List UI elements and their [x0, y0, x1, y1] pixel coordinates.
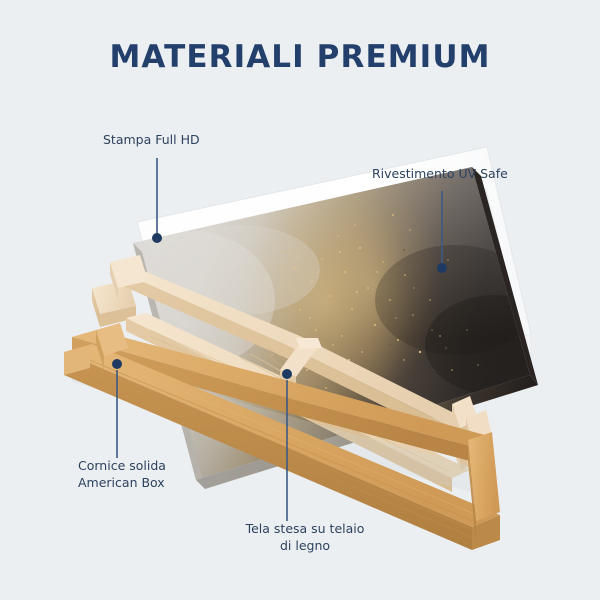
infographic-root: MATERIALI PREMIUM: [0, 0, 600, 600]
printed-canvas-layer: [95, 167, 565, 489]
callout-label-cornice-solida-american-box: Cornice solida American Box: [78, 457, 166, 492]
callout-dot-rivestimento-uv-safe: [437, 263, 447, 273]
callout-dot-stampa-full-hd: [152, 233, 162, 243]
callout-dot-cornice-solida: [112, 359, 122, 369]
exploded-product-illustration: Stampa Full HD Rivestimento UV Safe Corn…: [0, 0, 600, 600]
callout-label-rivestimento-uv-safe: Rivestimento UV Safe: [372, 165, 508, 182]
american-box-frame-layer: [64, 323, 500, 550]
uv-coating-sheet-layer: [137, 147, 531, 470]
illustration-svg: [0, 0, 600, 600]
callout-label-tela-stesa-su-telaio-di-legno: Tela stesa su telaio di legno: [205, 520, 405, 555]
callout-dot-tela-stesa: [282, 369, 292, 379]
gold-speckle-texture: [95, 180, 565, 420]
callout-dots: [112, 233, 447, 379]
callout-label-stampa-full-hd: Stampa Full HD: [103, 131, 200, 148]
